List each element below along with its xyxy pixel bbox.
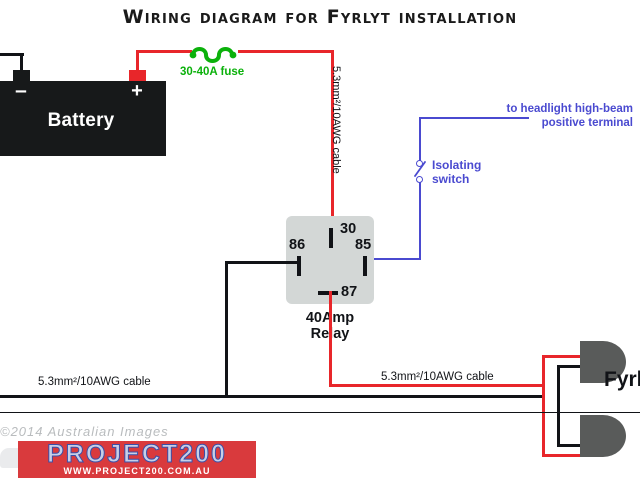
output-wire-to-lights [329,384,544,387]
isolating-switch-blade-icon[interactable] [414,161,427,177]
headlight-source-label: to headlight high-beam positive terminal [493,102,633,130]
watermark-brand: PROJECT200 [18,441,256,468]
relay-pin-87-label: 87 [341,284,357,300]
battery-positive-sign: + [124,83,150,99]
relay-pin-85-label: 85 [355,237,371,253]
relay-pin-85-terminal [363,256,367,276]
ground-wire-from-relay-86 [225,261,300,264]
relay-pin-86-label: 86 [289,237,305,253]
wiring-diagram-canvas: Wiring diagram for Fyrlyt installation –… [0,0,640,480]
positive-wire-from-fuse [238,50,334,53]
light-housing-bottom [580,415,626,457]
relay-pin-86-terminal [297,256,301,276]
lights-ground-bracket-vertical [557,365,560,447]
footer-divider [0,412,640,413]
main-ground-bus [0,395,545,398]
relay-pin-87-terminal [318,291,338,295]
battery-negative-sign: – [8,83,34,98]
trigger-wire-upper-vertical [419,117,421,163]
relay-pin-30-terminal [329,228,333,248]
cable-label-relay-to-lights: 5.3mm²/10AWG cable [381,371,494,383]
cable-label-battery-to-relay: 5.3mm²/10AWG cable [330,66,342,174]
relay-pin-30-label: 30 [340,221,356,237]
fuse-label: 30-40A fuse [180,66,244,78]
positive-wire-from-battery [136,50,139,72]
isolating-switch-label: Isolating switch [432,158,481,186]
lights-positive-bracket-vertical [542,355,545,457]
output-wire-from-relay-87 [329,291,332,387]
trigger-wire-lower-vertical [419,180,421,259]
positive-wire-to-fuse [136,50,192,53]
cable-label-ground: 5.3mm²/10AWG cable [38,376,151,388]
fuse-icon [186,44,244,66]
trigger-wire-to-relay-85 [366,258,421,260]
battery-label: Battery [0,110,162,132]
isolating-switch-lower-contact[interactable] [416,176,423,183]
page-title: Wiring diagram for Fyrlyt installation [0,6,640,28]
watermark-copyright: ©2014 Australian Images [0,424,169,439]
lights-name-label: Fyrl [604,368,640,392]
ground-wire-vertical [225,261,228,398]
watermark-url: WWW.PROJECT200.COM.AU [18,466,256,476]
